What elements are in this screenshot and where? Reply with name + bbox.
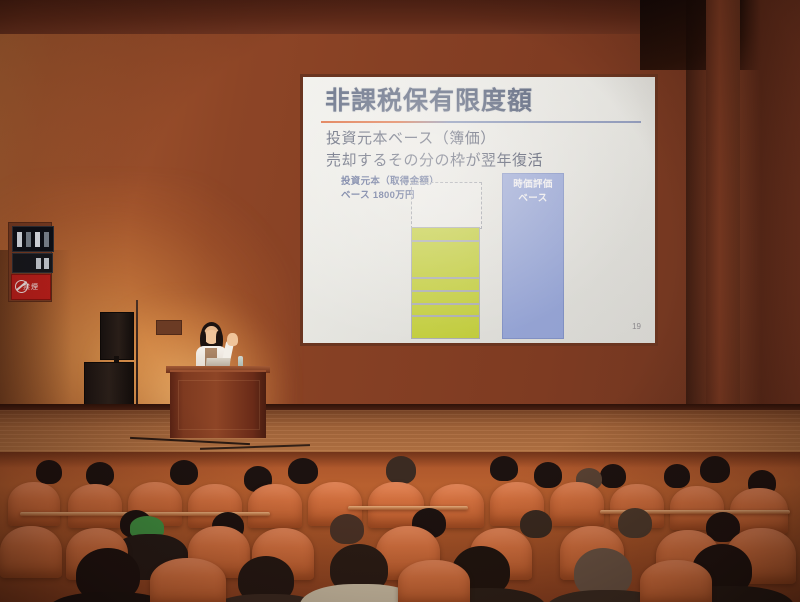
seat — [150, 558, 226, 602]
presentation-slide: 非課税保有限度額 投資元本ベース（簿価） 売却するその分の枠が翌年復活 投資元本… — [303, 77, 655, 343]
audience-area — [0, 452, 800, 602]
audience-head — [534, 462, 562, 488]
audience-head — [490, 456, 518, 481]
wall-right-section — [740, 0, 800, 470]
audience-head — [700, 456, 730, 483]
secondary-switch-row — [12, 253, 53, 273]
seat — [8, 482, 60, 526]
presenter-raised-hand — [227, 333, 238, 346]
no-smoking-label: 禁煙 — [23, 282, 39, 292]
bar-segment — [412, 317, 479, 338]
bar-segment — [412, 228, 479, 242]
audience-head-brown — [520, 510, 552, 538]
pa-speaker-top — [100, 312, 134, 360]
audience-head — [664, 464, 690, 488]
market-bar-label-line2: ベース — [503, 192, 563, 206]
seat — [68, 484, 122, 528]
audience-head-brown — [330, 514, 364, 544]
podium — [170, 370, 266, 438]
slide-subtitle-line2: 売却するその分の枠が翌年復活 — [326, 149, 543, 170]
podium-front-panel — [178, 380, 260, 430]
market-bar-caption: 時価評価 ベース — [503, 178, 563, 206]
seat — [398, 560, 470, 602]
wall-vent — [156, 320, 182, 335]
bar-segment — [412, 292, 479, 305]
projection-screen: 非課税保有限度額 投資元本ベース（簿価） 売却するその分の枠が翌年復活 投資元本… — [303, 77, 655, 343]
no-smoking-sign: 禁煙 — [11, 274, 51, 300]
bar-segment — [412, 279, 479, 292]
bar-segment — [412, 305, 479, 318]
slide-subtitle-line1: 投資元本ベース（簿価） — [326, 127, 496, 148]
audience-head-gray — [618, 508, 652, 538]
principal-stacked-bar — [411, 227, 480, 339]
market-bar-label-line1: 時価評価 — [503, 178, 563, 192]
slide-page-number: 19 — [632, 322, 641, 331]
audience-head — [170, 460, 198, 485]
slide-title: 非課税保有限度額 — [325, 89, 533, 114]
audience-head — [36, 460, 62, 484]
unused-quota-dashed-box — [411, 182, 482, 229]
light-switch-row — [12, 226, 54, 252]
audience-head-gray — [386, 456, 416, 484]
wall-control-panel: 禁煙 — [8, 222, 52, 302]
audience-head — [600, 464, 626, 488]
seat — [248, 484, 302, 528]
seat — [640, 560, 712, 602]
market-value-bar: 時価評価 ベース — [502, 173, 564, 339]
audience-head — [288, 458, 318, 484]
seat — [550, 482, 604, 526]
wall-pillar — [706, 0, 740, 470]
auditorium-photo: 禁煙 非課税保有限度額 投資元本ベース（簿価） 売却するその分の枠が翌年復活 投… — [0, 0, 800, 602]
pillar-shadow — [686, 0, 708, 470]
bar-segment — [412, 242, 479, 279]
title-underline-rule — [321, 121, 641, 123]
seat — [0, 526, 62, 578]
row-handrail — [348, 506, 468, 510]
